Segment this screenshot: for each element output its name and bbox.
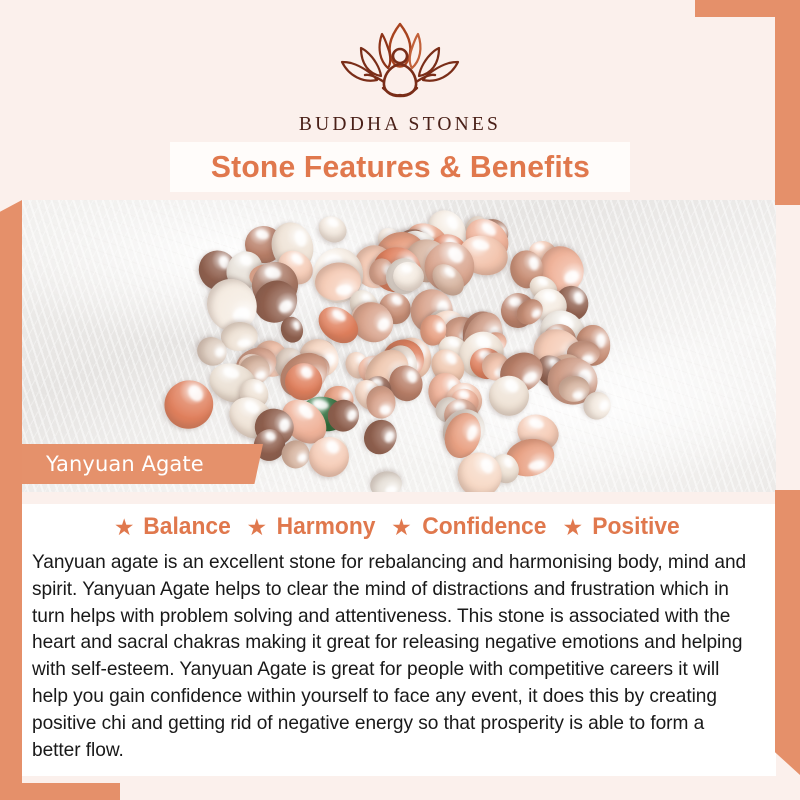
benefit-keyword-confidence: ★Confidence [391, 513, 549, 541]
star-icon: ★ [562, 516, 583, 539]
frame-left-lower-bar [0, 480, 22, 800]
benefit-keyword-balance: ★Balance [114, 513, 234, 541]
benefit-keyword-harmony: ★Harmony [247, 513, 379, 541]
star-icon: ★ [391, 516, 412, 539]
star-icon: ★ [247, 516, 268, 539]
lotus-buddha-meditation-icon [325, 18, 475, 110]
frame-left-photo-bar [0, 200, 22, 495]
infographic-page: BUDDHA STONES Stone Features & Benefits … [0, 0, 800, 800]
stone-name-banner: Yanyuan Agate [18, 444, 263, 484]
brand-logo-block: BUDDHA STONES [0, 18, 800, 136]
benefit-keyword-row: ★Balance★Harmony★Confidence★Positive [20, 504, 776, 541]
frame-right-upper-bar [775, 0, 800, 205]
benefit-keyword-label: Balance [144, 513, 231, 541]
stone-description: Yanyuan agate is an excellent stone for … [32, 549, 753, 763]
frame-right-lower-bar [775, 490, 800, 775]
benefit-keyword-label: Positive [592, 513, 679, 541]
page-title: Stone Features & Benefits [210, 149, 589, 185]
page-title-banner: Stone Features & Benefits [170, 142, 630, 192]
benefit-keyword-label: Harmony [277, 513, 376, 541]
benefit-keyword-label: Confidence [422, 513, 546, 541]
stone-name-label: Yanyuan Agate [46, 452, 204, 476]
star-icon: ★ [114, 516, 135, 539]
brand-name: BUDDHA STONES [299, 114, 501, 136]
description-panel: ★Balance★Harmony★Confidence★Positive Yan… [20, 504, 776, 776]
benefit-keyword-positive: ★Positive [562, 513, 682, 541]
